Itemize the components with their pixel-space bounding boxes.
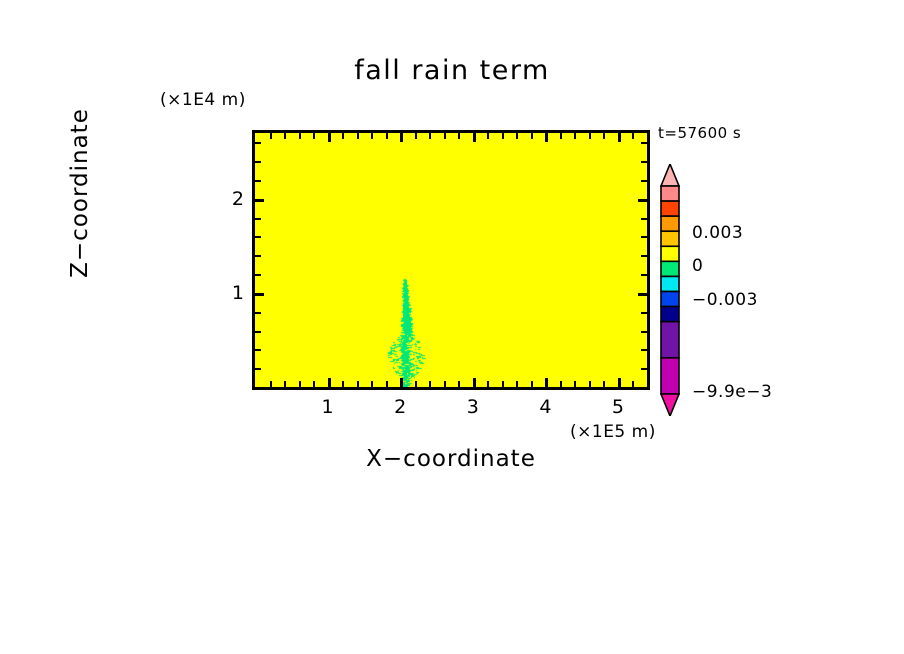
axis-tick xyxy=(371,133,373,139)
axis-tick xyxy=(270,381,272,387)
x-axis-title: X−coordinate xyxy=(252,446,650,472)
axis-tick xyxy=(638,199,647,202)
axis-tick xyxy=(429,381,431,387)
axis-tick xyxy=(641,349,647,351)
axis-tick xyxy=(516,381,518,387)
axis-tick xyxy=(255,142,261,144)
x-tick-label: 4 xyxy=(539,396,551,418)
axis-tick xyxy=(574,381,576,387)
axis-tick xyxy=(255,255,261,257)
axis-tick xyxy=(255,199,264,202)
axis-tick xyxy=(618,378,621,387)
axis-tick xyxy=(458,133,460,139)
axis-tick xyxy=(284,133,286,139)
y-axis-unit-label: (×1E4 m) xyxy=(160,90,246,110)
axis-tick xyxy=(255,161,261,163)
axis-tick xyxy=(429,133,431,139)
axis-tick xyxy=(270,133,272,139)
axis-tick xyxy=(255,293,264,296)
x-tick-label: 3 xyxy=(467,396,479,418)
axis-tick xyxy=(641,161,647,163)
axis-tick xyxy=(502,133,504,139)
axis-tick xyxy=(400,378,403,387)
axis-tick xyxy=(255,274,261,276)
axis-tick xyxy=(487,381,489,387)
x-axis-unit-label: (×1E5 m) xyxy=(570,422,656,442)
axis-tick xyxy=(400,133,403,142)
y-tick-label: 1 xyxy=(232,282,244,304)
axis-tick xyxy=(342,381,344,387)
axis-tick xyxy=(603,381,605,387)
axis-tick xyxy=(255,218,261,220)
axis-tick xyxy=(589,133,591,139)
axis-tick xyxy=(531,133,533,139)
axis-tick xyxy=(299,381,301,387)
x-tick-label: 2 xyxy=(394,396,406,418)
axis-tick xyxy=(328,378,331,387)
colorbar-tick-label: −9.9e−3 xyxy=(692,382,772,402)
axis-tick xyxy=(641,180,647,182)
axis-tick xyxy=(415,381,417,387)
axis-tick xyxy=(545,133,548,142)
axis-tick xyxy=(313,381,315,387)
axis-tick xyxy=(444,133,446,139)
axis-tick xyxy=(386,133,388,139)
axis-tick xyxy=(357,133,359,139)
axis-tick xyxy=(560,133,562,139)
axis-tick xyxy=(641,218,647,220)
axis-tick xyxy=(255,312,261,314)
scalar-field-image xyxy=(255,133,647,387)
axis-tick xyxy=(255,236,261,238)
axis-tick xyxy=(641,331,647,333)
axis-tick xyxy=(641,312,647,314)
axis-tick xyxy=(386,381,388,387)
axis-tick xyxy=(560,381,562,387)
axis-tick xyxy=(641,255,647,257)
colorbar xyxy=(658,164,682,416)
axis-tick xyxy=(641,236,647,238)
axis-tick xyxy=(415,133,417,139)
axis-tick xyxy=(641,142,647,144)
page-title: fall rain term xyxy=(0,55,904,86)
y-axis-title: Z−coordinate xyxy=(67,13,93,373)
axis-tick xyxy=(502,381,504,387)
axis-tick xyxy=(284,381,286,387)
axis-tick xyxy=(342,133,344,139)
axis-tick xyxy=(313,133,315,139)
axis-tick xyxy=(328,133,331,142)
axis-tick xyxy=(641,368,647,370)
axis-tick xyxy=(473,133,476,142)
axis-tick xyxy=(255,331,261,333)
axis-tick xyxy=(458,381,460,387)
axis-tick xyxy=(516,133,518,139)
axis-tick xyxy=(618,133,621,142)
axis-tick xyxy=(371,381,373,387)
axis-tick xyxy=(299,133,301,139)
colorbar-tick-label: 0 xyxy=(692,256,703,276)
axis-tick xyxy=(632,381,634,387)
axis-tick xyxy=(255,368,261,370)
axis-tick xyxy=(473,378,476,387)
axis-tick xyxy=(632,133,634,139)
time-annotation: t=57600 s xyxy=(658,124,741,142)
plot-area xyxy=(252,130,650,390)
axis-tick xyxy=(638,293,647,296)
axis-tick xyxy=(487,133,489,139)
colorbar-tick-label: 0.003 xyxy=(692,223,743,243)
axis-tick xyxy=(574,133,576,139)
axis-tick xyxy=(444,381,446,387)
axis-tick xyxy=(531,381,533,387)
figure-canvas: fall rain term (×1E4 m) t=57600 s 12345 … xyxy=(0,0,904,654)
x-tick-label: 1 xyxy=(322,396,334,418)
axis-tick xyxy=(641,274,647,276)
axis-tick xyxy=(589,381,591,387)
axis-tick xyxy=(357,381,359,387)
axis-tick xyxy=(603,133,605,139)
axis-tick xyxy=(255,349,261,351)
x-tick-label: 5 xyxy=(612,396,624,418)
axis-tick xyxy=(255,180,261,182)
axis-tick xyxy=(545,378,548,387)
colorbar-tick-label: −0.003 xyxy=(692,290,758,310)
y-tick-label: 2 xyxy=(232,188,244,210)
